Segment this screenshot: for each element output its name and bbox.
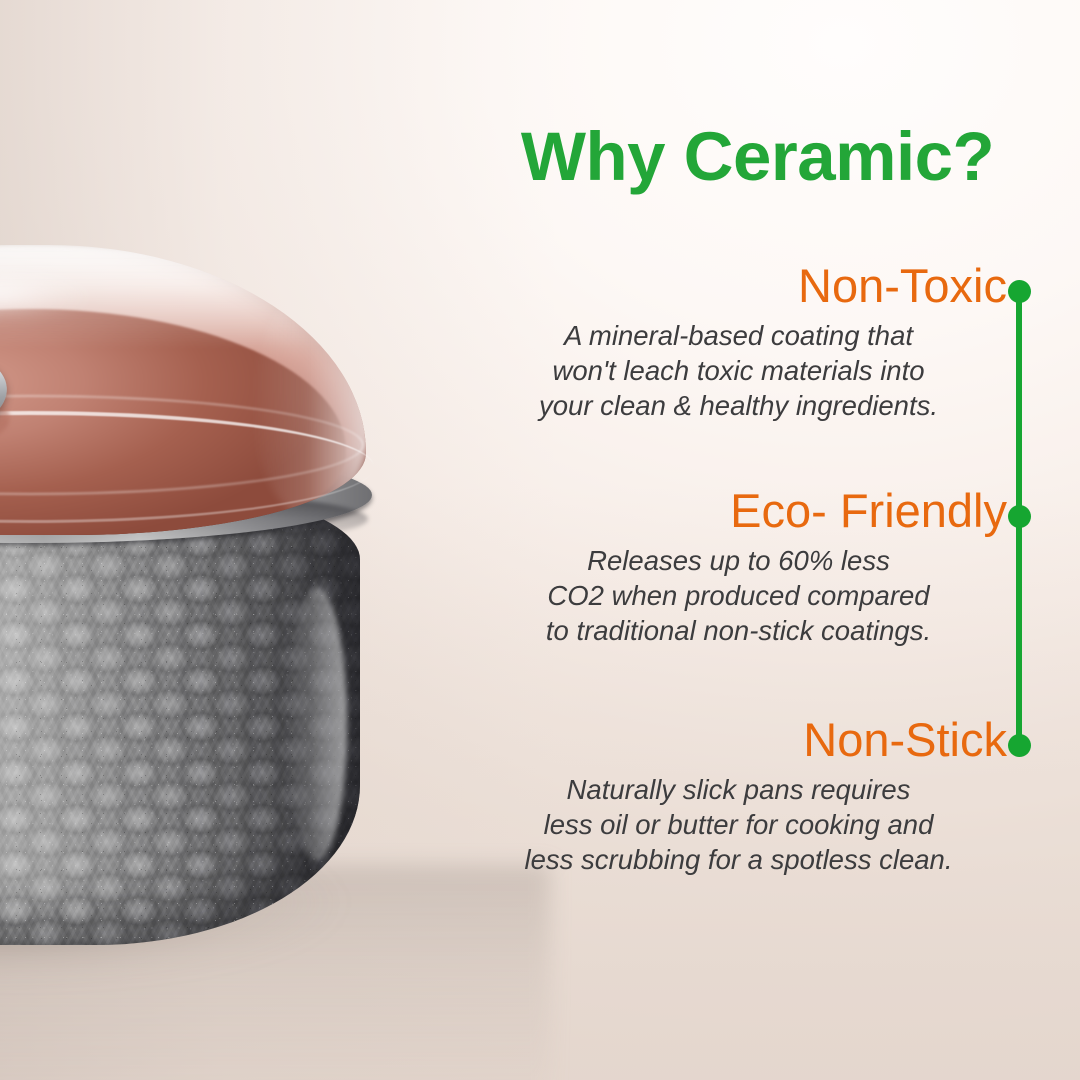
feature-line: to traditional non-stick coatings. (470, 614, 1007, 649)
infographic-canvas: Why Ceramic? Non-Toxic A mineral-based c… (0, 0, 1080, 1080)
feature-description: Releases up to 60% less CO2 when produce… (470, 544, 1015, 649)
feature-heading: Non-Stick (470, 716, 1015, 764)
feature-line: won't leach toxic materials into (470, 354, 1007, 389)
feature-line: CO2 when produced compared (470, 579, 1007, 614)
feature-line: Naturally slick pans requires (470, 773, 1007, 808)
product-photo (0, 95, 460, 955)
feature-line: less oil or butter for cooking and (470, 808, 1007, 843)
feature-line: A mineral-based coating that (470, 319, 1007, 354)
feature-description: Naturally slick pans requires less oil o… (470, 773, 1015, 878)
feature-block-non-toxic: Non-Toxic A mineral-based coating that w… (470, 262, 1015, 424)
feature-line: your clean & healthy ingredients. (470, 389, 1007, 424)
feature-block-eco-friendly: Eco- Friendly Releases up to 60% less CO… (470, 487, 1015, 649)
page-title: Why Ceramic? (470, 122, 1045, 191)
pot-right-edge-highlight (287, 588, 346, 861)
content-column: Why Ceramic? Non-Toxic A mineral-based c… (470, 0, 1080, 1080)
feature-heading: Eco- Friendly (470, 487, 1015, 535)
feature-line: less scrubbing for a spotless clean. (470, 843, 1007, 878)
feature-heading: Non-Toxic (470, 262, 1015, 310)
feature-description: A mineral-based coating that won't leach… (470, 319, 1015, 424)
feature-block-non-stick: Non-Stick Naturally slick pans requires … (470, 716, 1015, 878)
feature-line: Releases up to 60% less (470, 544, 1007, 579)
